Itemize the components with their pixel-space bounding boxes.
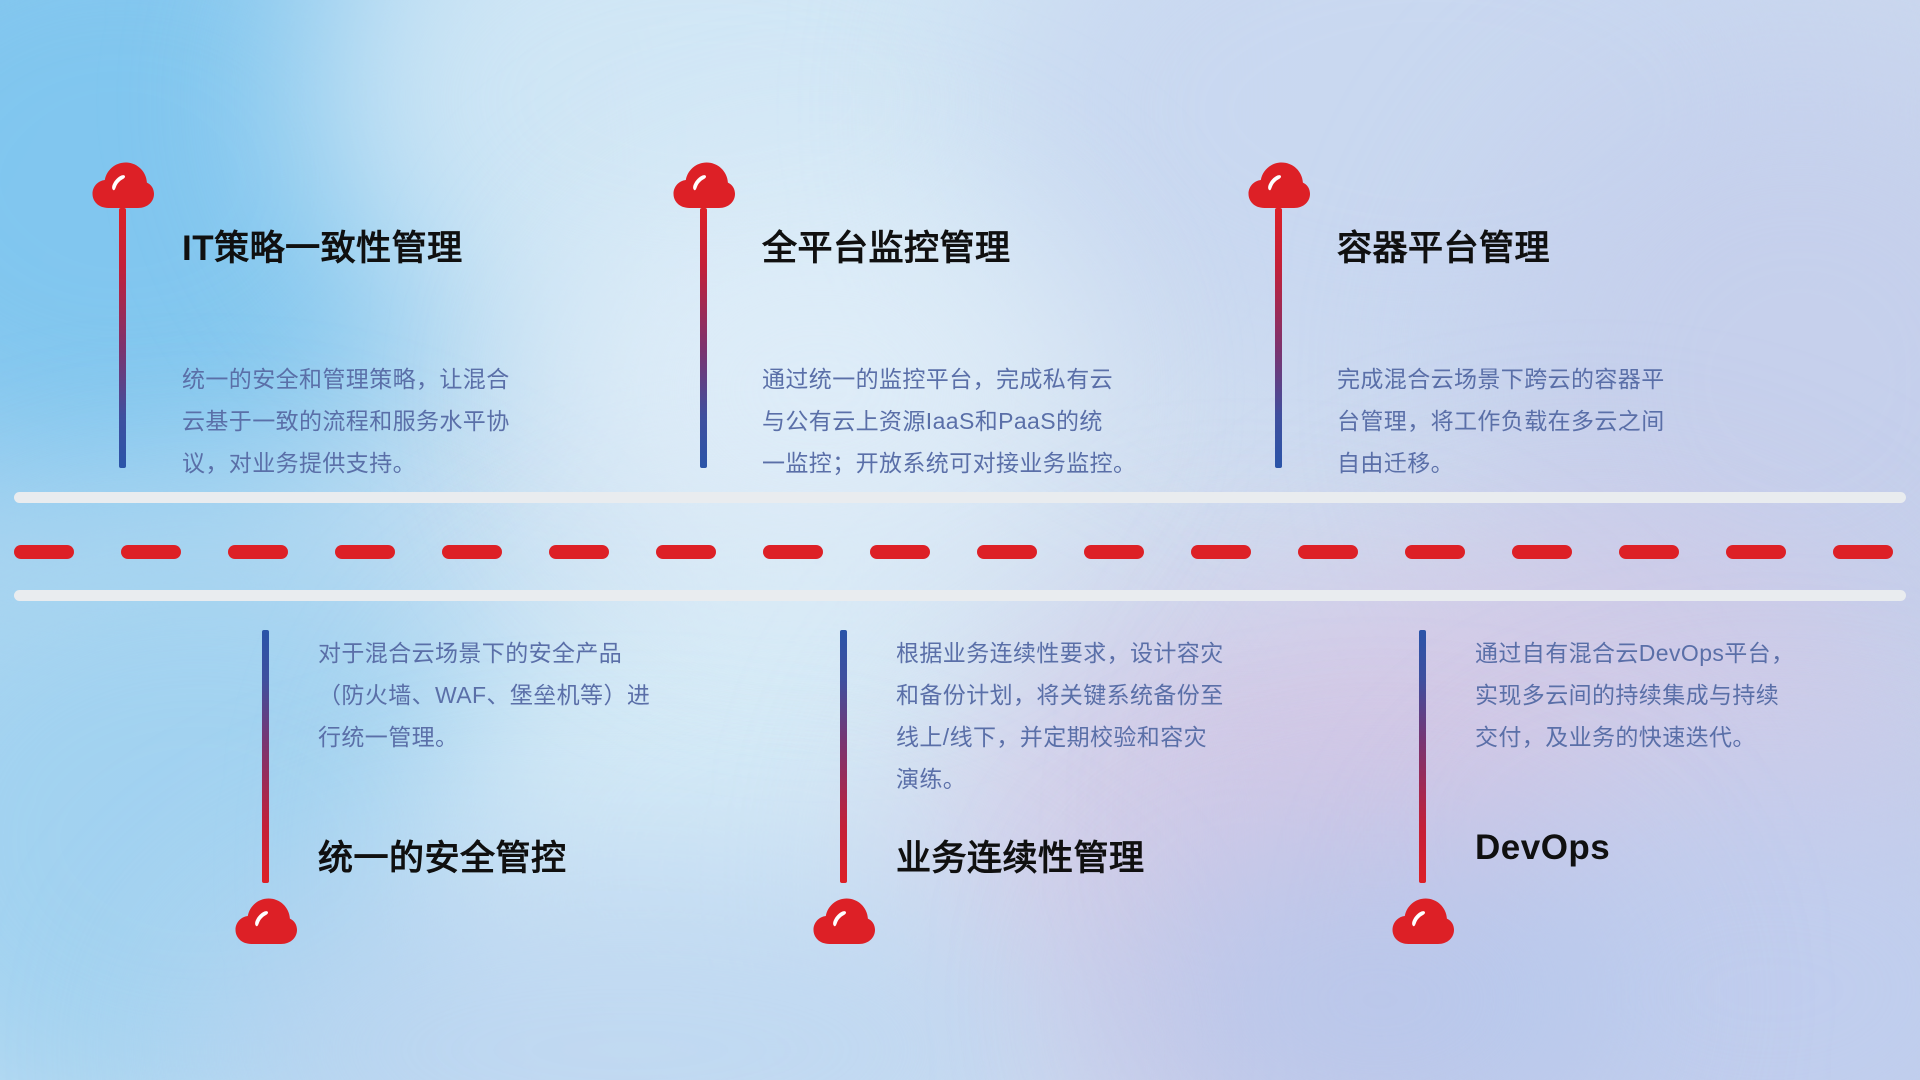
cloud-icon [1247,160,1311,210]
divider-dash [228,545,288,559]
divider-dash [1298,545,1358,559]
divider-line-top [14,492,1906,503]
divider-dash [1726,545,1786,559]
stem-connector [119,208,126,468]
divider-dash [121,545,181,559]
card-body: 完成混合云场景下跨云的容器平 台管理，将工作负载在多云之间 自由迁移。 [1337,358,1777,484]
card-title: DevOps [1475,828,1610,868]
cloud-icon [91,160,155,210]
cloud-icon [1391,896,1455,946]
infographic-canvas: IT策略一致性管理 统一的安全和管理策略，让混合 云基于一致的流程和服务水平协 … [0,0,1920,1080]
divider-dash [763,545,823,559]
stem-connector [262,630,269,883]
divider-dash [1405,545,1465,559]
divider-dash [1833,545,1893,559]
card-body: 统一的安全和管理策略，让混合 云基于一致的流程和服务水平协 议，对业务提供支持。 [182,358,612,484]
divider-dash [1084,545,1144,559]
divider-dash [656,545,716,559]
divider-dash [977,545,1037,559]
stem-connector [840,630,847,883]
divider-dash [870,545,930,559]
divider-dash [442,545,502,559]
card-title: 统一的安全管控 [318,830,567,881]
card-body: 通过自有混合云DevOps平台， 实现多云间的持续集成与持续 交付，及业务的快速… [1475,632,1915,758]
cloud-icon [234,896,298,946]
cloud-icon [812,896,876,946]
divider-dash [549,545,609,559]
card-title: IT策略一致性管理 [182,220,463,271]
card-body: 根据业务连续性要求，设计容灾 和备份计划，将关键系统备份至 线上/线下，并定期校… [896,632,1336,800]
cloud-icon [672,160,736,210]
divider-dashed-red [14,545,1906,559]
divider-dash [1619,545,1679,559]
divider-dash [1512,545,1572,559]
card-title: 全平台监控管理 [762,220,1011,271]
divider-line-bottom [14,590,1906,601]
stem-connector [1275,208,1282,468]
card-body: 对于混合云场景下的安全产品 （防火墙、WAF、堡垒机等）进 行统一管理。 [318,632,758,758]
card-title: 业务连续性管理 [896,830,1145,881]
stem-connector [1419,630,1426,883]
divider-dash [335,545,395,559]
card-body: 通过统一的监控平台，完成私有云 与公有云上资源IaaS和PaaS的统 一监控；开… [762,358,1212,484]
card-title: 容器平台管理 [1337,220,1550,271]
divider-dash [1191,545,1251,559]
divider-dash [14,545,74,559]
stem-connector [700,208,707,468]
